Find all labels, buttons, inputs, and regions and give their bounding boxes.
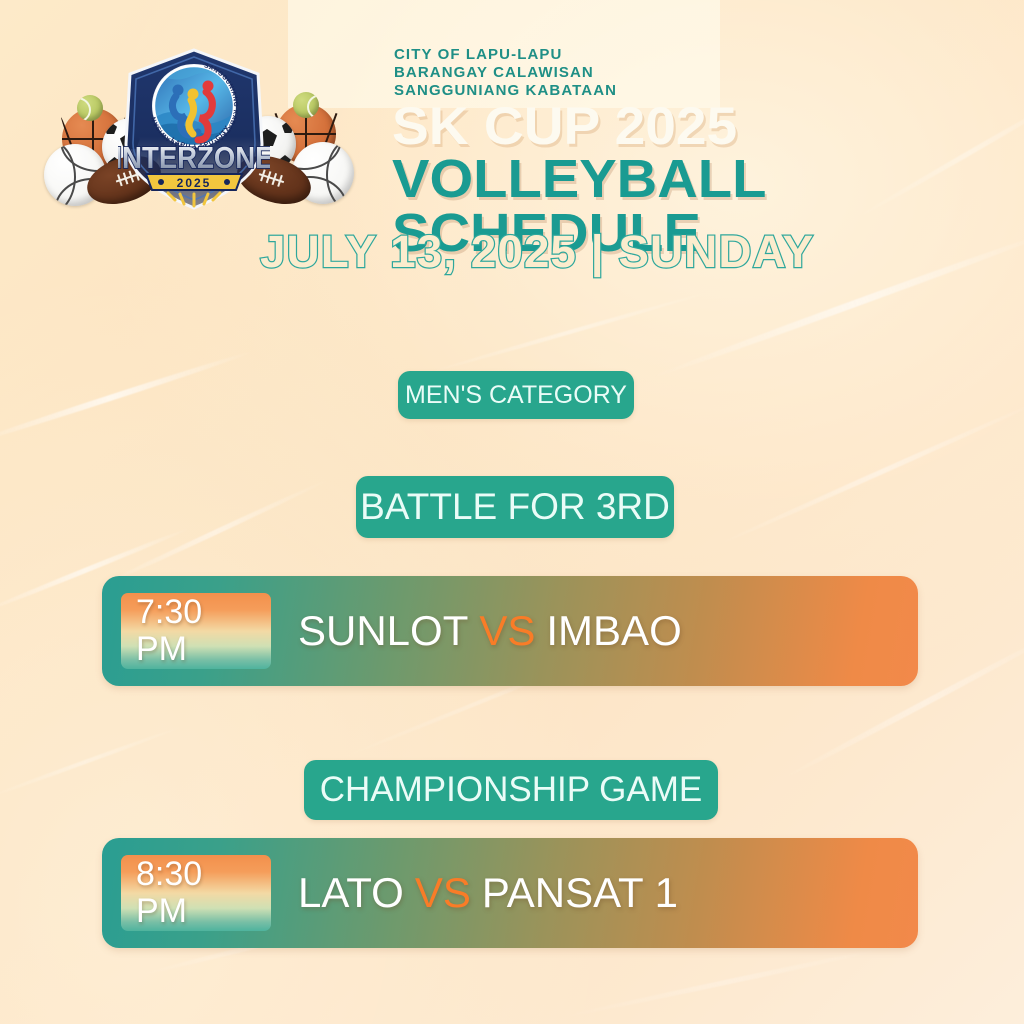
match-time-block: 8:30 PM <box>121 855 271 931</box>
team-b-label: PANSAT 1 <box>482 869 678 917</box>
team-a-label: SUNLOT <box>298 607 468 655</box>
team-a-label: LATO <box>298 869 404 917</box>
light-ray <box>0 349 254 447</box>
tennis-ball-icon <box>293 92 319 118</box>
match-teams: LATO VS PANSAT 1 <box>298 838 678 948</box>
page-title-primary: SK CUP 2025 <box>392 100 737 153</box>
match-time-label: 8:30 PM <box>136 856 271 930</box>
interzone-logo: SANGGUNIANG KABATAAN · BUGY KALAWISAN LA… <box>44 46 344 218</box>
match-teams: SUNLOT VS IMBAO <box>298 576 682 686</box>
category-badge-label: MEN'S CATEGORY <box>405 381 627 410</box>
poster-canvas: SANGGUNIANG KABATAAN · BUGY KALAWISAN LA… <box>0 0 1024 1024</box>
logo-year: 2025 <box>177 176 212 190</box>
light-ray <box>425 289 714 376</box>
category-badge: MEN'S CATEGORY <box>398 371 634 419</box>
org-line-city: CITY OF LAPU-LAPU <box>394 46 617 64</box>
section-heading-label: BATTLE FOR 3RD <box>360 486 670 528</box>
team-b-label: IMBAO <box>546 607 681 655</box>
match-time-block: 7:30 PM <box>121 593 271 669</box>
organization-heading: CITY OF LAPU-LAPU BARANGAY CALAWISAN SAN… <box>394 46 617 100</box>
match-row: 7:30 PM SUNLOT VS IMBAO <box>102 576 918 686</box>
logo-wordmark: INTERZONE <box>118 142 270 175</box>
match-time-label: 7:30 PM <box>136 594 271 668</box>
light-ray <box>0 724 184 800</box>
shield-badge-icon: SANGGUNIANG KABATAAN · BUGY KALAWISAN LA… <box>118 48 270 210</box>
tennis-ball-icon <box>77 95 103 121</box>
vs-label: VS <box>404 869 482 917</box>
org-line-barangay: BARANGAY CALAWISAN <box>394 64 617 82</box>
match-row: 8:30 PM LATO VS PANSAT 1 <box>102 838 918 948</box>
light-ray <box>101 477 330 587</box>
section-heading-label: CHAMPIONSHIP GAME <box>320 770 702 810</box>
light-ray <box>715 397 1024 548</box>
event-date: JULY 13, 2025 | SUNDAY <box>260 228 814 276</box>
section-heading-battle-for-3rd: BATTLE FOR 3RD <box>356 476 674 538</box>
section-heading-championship-game: CHAMPIONSHIP GAME <box>304 760 718 820</box>
light-ray <box>563 946 887 1020</box>
vs-label: VS <box>468 607 546 655</box>
